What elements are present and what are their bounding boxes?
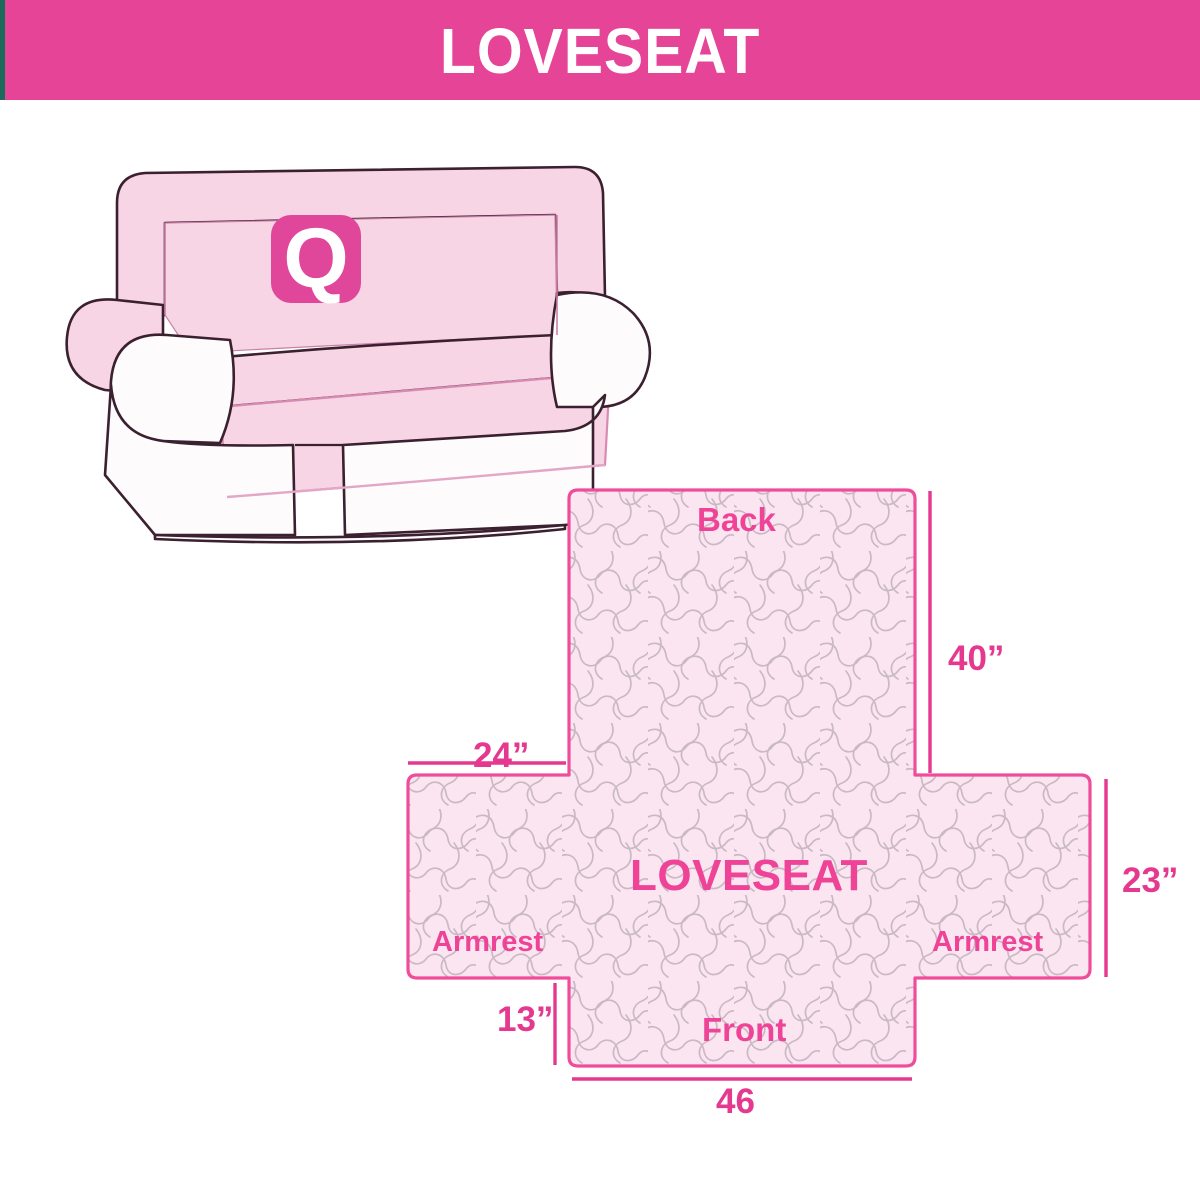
dimension-label-back-inset: 24” (473, 738, 529, 773)
panel-label-back: Back (697, 503, 776, 536)
panel-label-front: Front (702, 1013, 786, 1046)
header-banner: LOVESEAT (0, 0, 1200, 100)
panel-label-armrest-left: Armrest (432, 928, 543, 957)
panel-label-armrest-right: Armrest (932, 928, 1043, 957)
brand-logo: Q (271, 211, 361, 305)
page-title: LOVESEAT (440, 19, 760, 83)
dimension-label-front-height: 13” (497, 1002, 553, 1037)
panel-label-seat: LOVESEAT (630, 854, 868, 898)
dimension-label-armrest-depth: 23” (1122, 863, 1178, 898)
header-edge-accent (0, 0, 5, 100)
dimension-label-front-width: 46 (716, 1084, 755, 1119)
logo-letter-q: Q (283, 211, 348, 305)
dimension-label-back-height: 40” (948, 641, 1004, 676)
sofa-arm-right-inner (551, 292, 650, 407)
